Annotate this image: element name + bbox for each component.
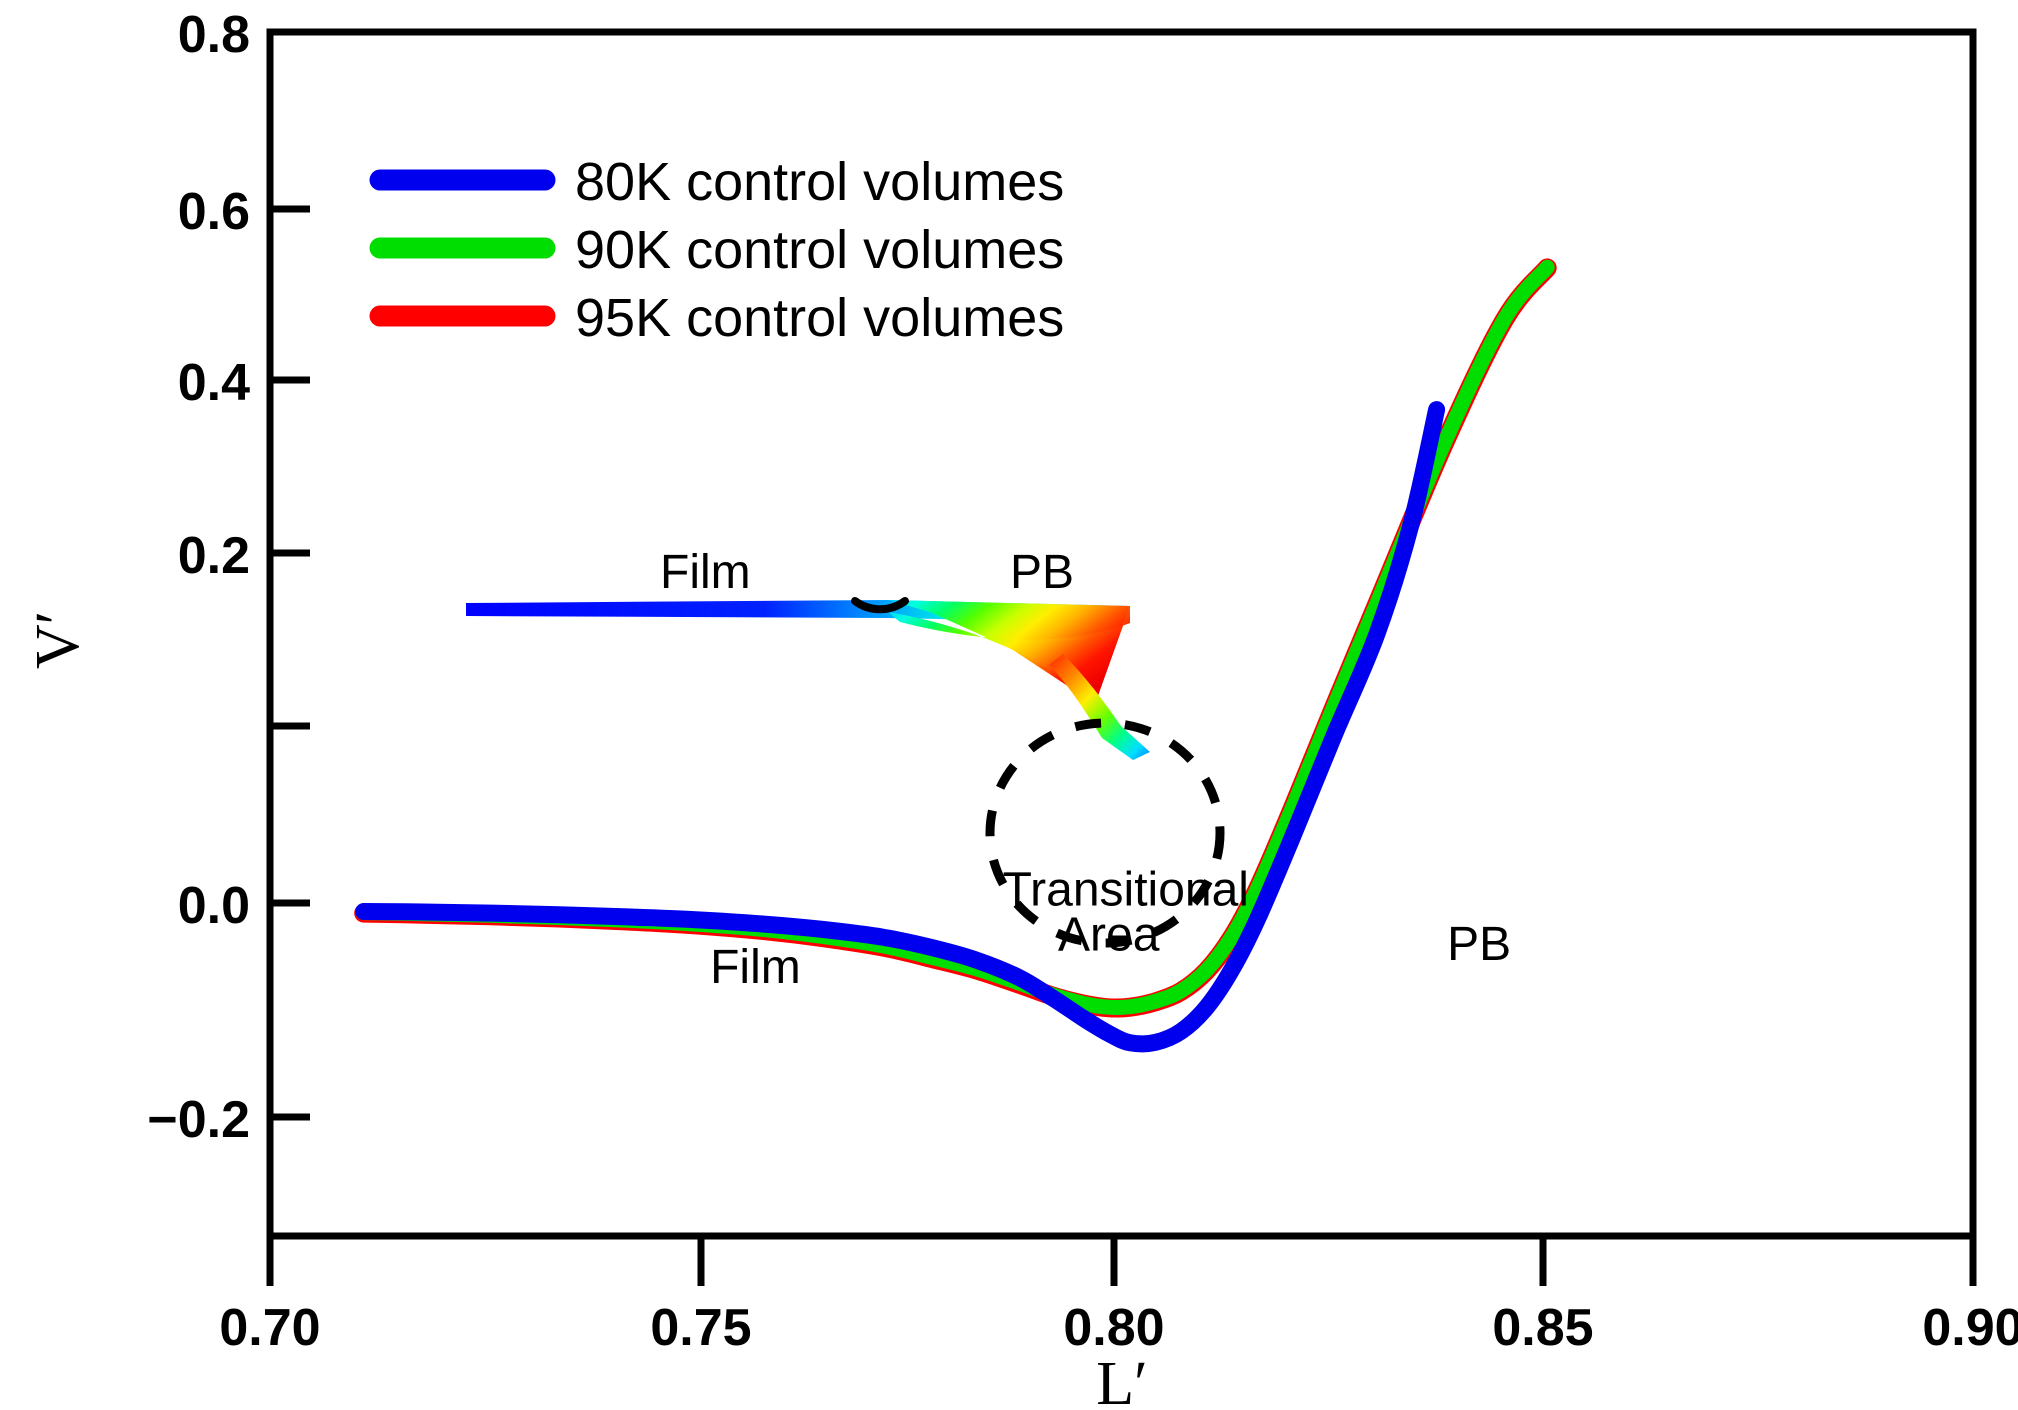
y-axis-title: V′	[24, 611, 92, 669]
inset-film-label: Film	[660, 546, 751, 599]
plot-border	[270, 32, 1973, 1236]
chart-legend: 80K control volumes90K control volumes95…	[380, 152, 1064, 348]
x-tick-label-0: 0.70	[219, 1299, 320, 1357]
y-tick-label-3: 0.2	[178, 527, 250, 585]
inset-pb-label: PB	[1010, 546, 1074, 599]
x-tick-label-2: 0.80	[1063, 1299, 1164, 1357]
y-tick-label-5: −0.2	[147, 1091, 250, 1149]
x-tick-labels: 0.70 0.75 0.80 0.85 0.90	[219, 1299, 2018, 1357]
x-axis-ticks	[270, 1236, 1973, 1286]
film-label-main: Film	[710, 941, 801, 994]
y-tick-labels: 0.8 0.6 0.4 0.2 0.0 −0.2	[147, 6, 250, 1149]
pb-label-main: PB	[1447, 918, 1511, 971]
chart-figure: 0.8 0.6 0.4 0.2 0.0 −0.2 0.70 0.75 0.80 …	[0, 0, 2018, 1410]
plot-frame	[270, 32, 1973, 1236]
y-tick-label-0: 0.8	[178, 6, 250, 64]
x-axis-title: L′	[1096, 1350, 1147, 1410]
y-tick-label-4: 0.0	[178, 877, 250, 935]
y-tick-label-2: 0.4	[178, 354, 250, 412]
x-tick-label-3: 0.85	[1492, 1299, 1593, 1357]
legend-label-1: 80K control volumes	[575, 152, 1064, 212]
legend-label-3: 95K control volumes	[575, 288, 1064, 348]
chart-canvas: 0.8 0.6 0.4 0.2 0.0 −0.2 0.70 0.75 0.80 …	[0, 0, 2018, 1410]
legend-label-2: 90K control volumes	[575, 220, 1064, 280]
x-tick-label-1: 0.75	[650, 1299, 751, 1357]
x-tick-label-4: 0.90	[1922, 1299, 2018, 1357]
y-tick-label-1: 0.6	[178, 183, 250, 241]
area-label: Area	[1058, 908, 1160, 961]
